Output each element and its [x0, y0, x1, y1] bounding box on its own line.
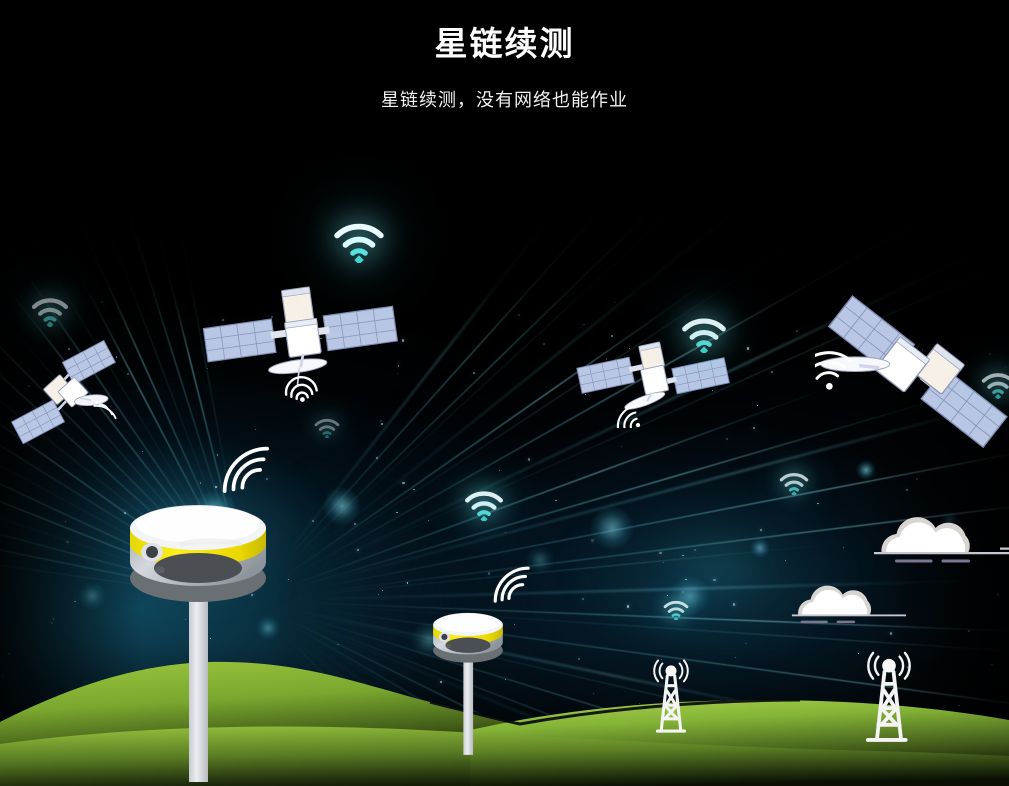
star: [376, 457, 378, 459]
star: [760, 529, 762, 531]
star: [694, 549, 696, 551]
page-subtitle: 星链续测，没有网络也能作业: [0, 64, 1009, 112]
wifi-icon: [681, 317, 727, 353]
wifi-icon: [464, 490, 504, 521]
header: 星链续测 星链续测，没有网络也能作业: [0, 0, 1009, 112]
star: [380, 420, 382, 422]
gnss-receiver-small: [428, 598, 510, 758]
star: [74, 601, 75, 602]
star: [682, 555, 683, 556]
gnss-receiver-icon: [120, 482, 280, 782]
wifi-icon: [314, 418, 340, 438]
cell-tower-left: [640, 650, 702, 736]
wifi-icon: [779, 472, 809, 495]
star: [916, 478, 918, 480]
gnss-receiver-large: [120, 482, 280, 782]
star: [255, 429, 257, 431]
star: [621, 446, 622, 447]
star: [906, 489, 908, 491]
wifi-icon: [663, 600, 689, 620]
signal-wave-icon: [214, 438, 276, 500]
signal-wave-small-receiver: [487, 560, 535, 608]
cloud-upper-right: [862, 508, 1009, 578]
cloud-icon: [862, 508, 1009, 578]
light-spark: [590, 506, 634, 550]
star: [667, 595, 668, 596]
star: [757, 405, 758, 406]
star: [312, 520, 314, 522]
light-spark: [750, 538, 771, 559]
star: [354, 523, 356, 525]
star: [381, 423, 383, 425]
star: [357, 549, 359, 551]
wifi-icon-d: [314, 418, 340, 438]
star: [288, 579, 289, 580]
star: [546, 387, 547, 388]
star: [528, 458, 530, 460]
star: [428, 520, 429, 521]
light-spark: [323, 487, 361, 525]
star: [396, 512, 397, 513]
satellite-icon: [195, 262, 405, 402]
light-spark: [78, 582, 106, 610]
wifi-icon-a: [333, 222, 385, 263]
star: [713, 579, 715, 581]
wifi-icon-c: [681, 317, 727, 353]
star: [785, 560, 786, 561]
star: [771, 371, 773, 373]
star: [53, 618, 55, 620]
star: [555, 500, 556, 501]
star: [627, 605, 629, 607]
wifi-icon-b: [31, 297, 69, 327]
satellite-top-center: [195, 262, 405, 402]
star: [65, 521, 66, 522]
star: [817, 503, 818, 504]
wifi-icon-f: [779, 472, 809, 495]
star: [51, 622, 53, 624]
wifi-icon: [981, 372, 1009, 399]
star: [843, 547, 844, 548]
wifi-icon: [31, 297, 69, 327]
signal-wave-icon: [487, 560, 535, 608]
wifi-icon-e: [464, 490, 504, 521]
star: [473, 372, 475, 374]
cell-tower-icon: [640, 650, 702, 736]
gnss-receiver-icon: [428, 598, 510, 758]
star: [378, 594, 379, 595]
star: [142, 451, 143, 452]
star: [505, 532, 506, 533]
star: [659, 552, 661, 554]
illustration-stage: 星链续测 星链续测，没有网络也能作业: [0, 0, 1009, 786]
signal-wave-large-receiver: [214, 438, 276, 500]
wifi-icon: [333, 222, 385, 263]
cell-tower-right: [850, 640, 928, 746]
star: [726, 438, 728, 440]
satellite-right-large: [815, 272, 1009, 472]
wifi-icon-g: [663, 600, 689, 620]
star: [413, 489, 415, 491]
satellite-icon: [815, 272, 1009, 472]
star: [753, 427, 756, 430]
cell-tower-icon: [850, 640, 928, 746]
star: [663, 562, 665, 564]
star: [407, 582, 409, 584]
wifi-icon-h: [981, 372, 1009, 399]
star: [733, 603, 735, 605]
star: [582, 598, 584, 600]
star: [499, 470, 500, 471]
star: [402, 482, 405, 485]
star: [997, 593, 999, 595]
star: [66, 541, 68, 543]
star: [514, 624, 515, 625]
star: [382, 590, 383, 591]
page-title: 星链续测: [0, 0, 1009, 64]
